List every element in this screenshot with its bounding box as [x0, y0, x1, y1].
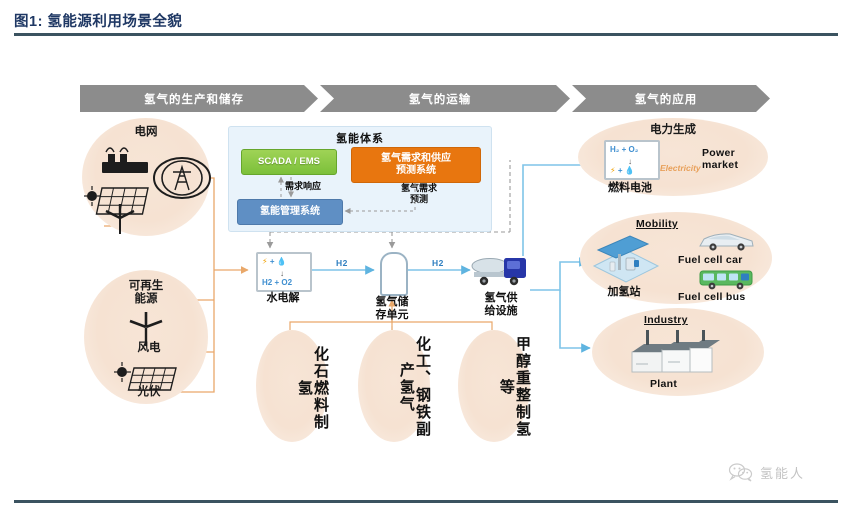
fuel-cell-output-row: ⚡ + 💧 — [610, 166, 635, 175]
refuelling-station-label: 加氢站 — [586, 286, 662, 299]
fuel-cell-car-label: Fuel cell car — [678, 254, 743, 266]
power-market-label: Power market — [702, 147, 738, 171]
h2-flow-tag-1: H2 — [336, 258, 348, 268]
fuel-cell-icon: H₂ + O₂ ↓ ⚡ + 💧 — [604, 140, 660, 180]
fc-water-icon: 💧 — [625, 166, 635, 175]
plant-label: Plant — [650, 378, 677, 390]
electrolyzer-input-row: ⚡ + 💧 — [262, 257, 287, 266]
storage-label-line2: 存单元 — [376, 309, 409, 321]
fuel-cell-arrow: ↓ — [628, 157, 632, 166]
stage-application-label: 氢气的应用 — [635, 91, 698, 107]
hydrogen-truck-icon — [470, 252, 532, 292]
stage-transport-label: 氢气的运输 — [409, 91, 472, 107]
water-drop-icon: 💧 — [277, 257, 287, 266]
refuelling-station-icon — [586, 232, 662, 288]
fc-plus-2: + — [618, 166, 623, 175]
source-label-3: 甲醇重整制氢等 — [458, 336, 530, 438]
fuel-cell-input-row: H₂ + O₂ — [610, 145, 638, 154]
stage-transport: 氢气的运输 — [320, 85, 570, 112]
figure-page: 图1: 氢能源利用场景全貌 — [0, 0, 852, 515]
hydrogen-storage-label: 氢气储 存单元 — [357, 296, 427, 322]
stage-production: 氢气的生产和储存 — [80, 85, 318, 112]
o2-output: O2 — [281, 278, 292, 287]
reaction-arrow: ↓ — [280, 269, 284, 278]
power-market-line2: market — [702, 159, 738, 171]
fuel-cell-bus-icon — [696, 268, 758, 290]
plus-sign: + — [270, 257, 275, 266]
hydrogen-supply-label: 氢气供 给设施 — [466, 292, 536, 318]
supply-label-line1: 氢气供 — [485, 292, 518, 304]
renewable-label-line1: 可再生 — [129, 280, 164, 292]
source-label-2: 化工、钢铁副产氢气 — [358, 336, 430, 438]
plant-icon — [624, 330, 728, 378]
electrolyzer-icon: ⚡ + 💧 ↓ H2 + O2 — [256, 252, 312, 292]
electricity-label: Electricity — [660, 163, 701, 173]
electrolyzer-output-row: H2 + O2 — [262, 278, 292, 287]
fuel-cell-label: 燃料电池 — [588, 182, 672, 195]
industry-label: Industry — [644, 314, 688, 326]
fc-o2: O₂ — [628, 145, 638, 154]
source-label-1: 化石燃料制氢 — [256, 340, 328, 436]
zone-renewable-label: 可再生 能源 — [84, 280, 208, 306]
mobility-label: Mobility — [636, 218, 678, 230]
wechat-logo-icon — [728, 462, 754, 482]
wind-power-label: 风电 — [104, 342, 194, 355]
pv-label: 光伏 — [104, 386, 194, 399]
storage-label-line1: 氢气储 — [376, 296, 409, 308]
renewable-label-line2: 能源 — [135, 293, 158, 305]
fuel-cell-car-icon — [696, 230, 758, 252]
stage-banner: 氢气的生产和储存 氢气的运输 氢气的应用 — [80, 85, 770, 112]
fc-plus: + — [622, 145, 627, 154]
electrolysis-label: 水电解 — [248, 292, 318, 305]
h2-flow-tag-2: H2 — [432, 258, 444, 268]
h2-output: H2 — [262, 278, 272, 287]
fc-h2: H₂ — [610, 145, 619, 154]
fuel-cell-bus-label: Fuel cell bus — [678, 291, 746, 303]
hydrogen-system-panel: 氢能体系 SCADA / EMS 氢气需求和供应 预测系统 氢能管理系统 需求响… — [228, 126, 492, 232]
power-market-line1: Power — [702, 147, 735, 159]
zone-grid-label: 电网 — [82, 126, 210, 139]
hydrogen-tank-icon — [380, 252, 408, 296]
fc-lightning-icon: ⚡ — [610, 166, 616, 175]
supply-label-line2: 给设施 — [485, 305, 518, 317]
lightning-icon: ⚡ — [262, 257, 268, 266]
plus-sign-2: + — [274, 278, 279, 287]
grid-icons — [86, 140, 206, 235]
watermark: 氢能人 — [728, 462, 805, 482]
stage-production-label: 氢气的生产和储存 — [144, 91, 244, 107]
stage-application: 氢气的应用 — [572, 85, 770, 112]
panel-links — [229, 127, 491, 231]
power-generation-label: 电力生成 — [578, 124, 768, 137]
watermark-text: 氢能人 — [760, 463, 805, 482]
